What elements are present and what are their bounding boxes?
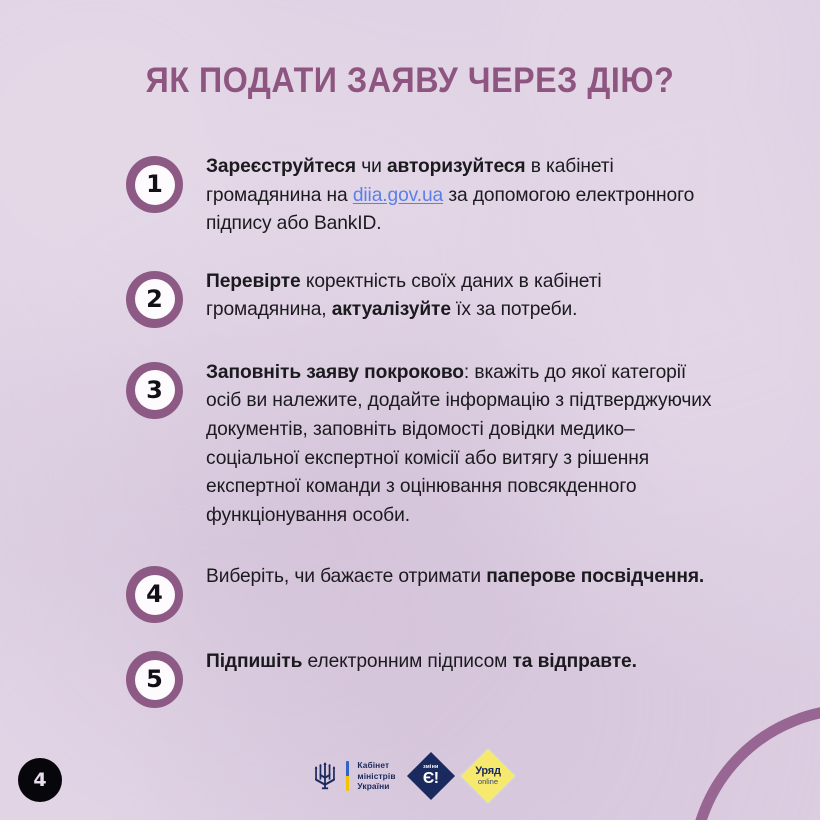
- emphasis-text: Заповніть заяву покроково: [206, 362, 464, 383]
- footer-logo-row: Кабінет міністрів України зміни Є! Уряд …: [0, 756, 820, 796]
- step-text-5: Підпишіть електронним підписом та відпра…: [206, 647, 637, 677]
- list-item-step-1: 1 Зареєструйтеся чи авторизуйтеся в кабі…: [126, 152, 726, 239]
- logo-zmini-ye: зміни Є!: [407, 752, 455, 800]
- step-number-badge-3: 3: [126, 362, 183, 419]
- emphasis-text: Підпишіть: [206, 651, 302, 672]
- list-item-step-4: 4 Виберіть, чи бажаєте отримати паперове…: [126, 562, 726, 623]
- logo-zmini-ye-label: зміни Є!: [423, 765, 439, 787]
- step-number-badge-4: 4: [126, 566, 183, 623]
- step-number-badge-1: 1: [126, 156, 183, 213]
- emphasis-text: та відправте.: [512, 651, 636, 672]
- ukraine-trident-icon: [312, 761, 338, 791]
- step-number-badge-2: 2: [126, 271, 183, 328]
- step-text-3: Заповніть заяву покроково: вкажіть до як…: [206, 358, 726, 531]
- logo-uryad-small-text: online: [475, 778, 501, 786]
- step-number-badge-5: 5: [126, 651, 183, 708]
- logo-uryad-online-label: Уряд online: [475, 766, 501, 786]
- emphasis-text: паперове посвідчення.: [486, 566, 704, 587]
- logo-cabmin-text: Кабінет міністрів України: [357, 760, 395, 791]
- step-number-5: 5: [135, 660, 175, 700]
- list-item-step-2: 2 Перевірте коректність своїх даних в ка…: [126, 267, 726, 328]
- external-link[interactable]: diia.gov.ua: [353, 185, 443, 206]
- emphasis-text: авторизуйтеся: [387, 156, 526, 177]
- step-text-4: Виберіть, чи бажаєте отримати паперове п…: [206, 562, 704, 592]
- ukraine-flag-divider: [346, 761, 349, 791]
- logo-cabmin-line-1: Кабінет: [357, 760, 395, 770]
- steps-list: 1 Зареєструйтеся чи авторизуйтеся в кабі…: [126, 152, 726, 708]
- step-text-1: Зареєструйтеся чи авторизуйтеся в кабіне…: [206, 152, 726, 239]
- plain-text: : вкажіть до якої категорії осіб ви нале…: [206, 362, 711, 526]
- emphasis-text: Перевірте: [206, 271, 301, 292]
- step-number-4: 4: [135, 575, 175, 615]
- plain-text: електронним підписом: [302, 651, 512, 672]
- page-title: ЯК ПОДАТИ ЗАЯВУ ЧЕРЕЗ ДІЮ?: [33, 61, 787, 101]
- step-number-1: 1: [135, 165, 175, 205]
- step-number-3: 3: [135, 370, 175, 410]
- step-text-2: Перевірте коректність своїх даних в кабі…: [206, 267, 726, 325]
- plain-text: їх за потреби.: [451, 299, 577, 320]
- logo-uryad-big-text: Уряд: [475, 766, 501, 777]
- plain-text: чи: [356, 156, 387, 177]
- list-item-step-5: 5 Підпишіть електронним підписом та відп…: [126, 647, 726, 708]
- slide-canvas: ЯК ПОДАТИ ЗАЯВУ ЧЕРЕЗ ДІЮ? 1 Зареєструйт…: [0, 0, 820, 820]
- logo-uryad-online: Уряд online: [459, 748, 516, 805]
- step-number-2: 2: [135, 279, 175, 319]
- emphasis-text: Зареєструйтеся: [206, 156, 356, 177]
- plain-text: Виберіть, чи бажаєте отримати: [206, 566, 486, 587]
- logo-cabmin-line-2: міністрів: [357, 771, 395, 781]
- logo-cabmin-line-3: України: [357, 781, 395, 791]
- list-item-step-3: 3 Заповніть заяву покроково: вкажіть до …: [126, 358, 726, 531]
- logo-cabinet-of-ministers: Кабінет міністрів України: [312, 760, 395, 791]
- emphasis-text: актуалізуйте: [332, 299, 451, 320]
- logo-zmini-ye-big-text: Є!: [423, 771, 439, 787]
